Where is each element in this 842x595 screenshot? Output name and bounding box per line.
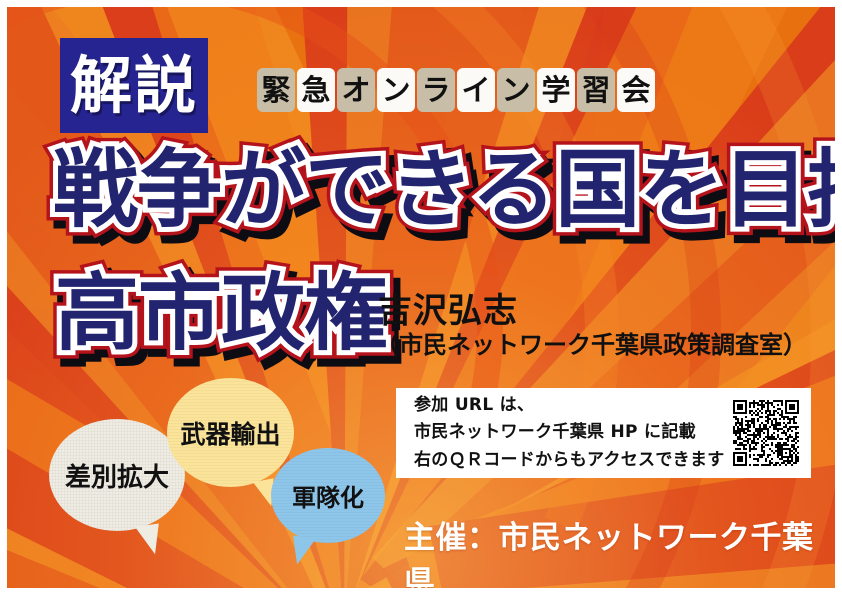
event-type-tile: オ xyxy=(337,68,375,112)
event-type-tiles: 緊急オンライン学習会 xyxy=(257,68,655,112)
event-type-tile: 学 xyxy=(537,68,575,112)
headline-line-2-fill: 高市政権 xyxy=(55,271,387,355)
speech-bubble-weapons-export: 武器輸出 xyxy=(167,378,294,487)
speech-bubble-tail-icon xyxy=(289,536,316,567)
info-line-1: 参加 URL は、 xyxy=(414,392,725,420)
speech-bubble-militarization: 軍隊化 xyxy=(271,448,385,543)
poster-root: 解説 緊急オンライン学習会 戦争ができる国を目指す 戦争ができる国を目指す 戦争… xyxy=(0,0,842,595)
event-type-tile: ン xyxy=(497,68,535,112)
speech-bubble-tail-icon xyxy=(135,523,163,556)
speech-bubble-weapons-export-label: 武器輸出 xyxy=(180,415,280,451)
event-type-tile: ラ xyxy=(417,68,455,112)
headline-line-1-fill: 戦争ができる国を目指す xyxy=(53,148,842,233)
speech-bubble-discrimination-label: 差別拡大 xyxy=(65,457,169,494)
speech-bubble-militarization-label: 軍隊化 xyxy=(292,478,364,513)
qr-code-icon[interactable] xyxy=(733,400,799,466)
event-type-tile: 緊 xyxy=(257,68,295,112)
event-type-tile: 急 xyxy=(297,68,335,112)
info-line-3: 右のＱＲコードからもアクセスできます xyxy=(414,447,725,475)
event-type-tile: 会 xyxy=(617,68,655,112)
info-line-2: 市民ネットワーク千葉県 HP に記載 xyxy=(414,419,725,447)
participation-info-box: 参加 URL は、 市民ネットワーク千葉県 HP に記載 右のＱＲコードからもア… xyxy=(396,388,811,478)
event-type-tile: 習 xyxy=(577,68,615,112)
kaisetsu-badge: 解説 xyxy=(60,38,208,133)
speech-bubble-discrimination: 差別拡大 xyxy=(49,419,185,531)
poster-frame: 解説 緊急オンライン学習会 戦争ができる国を目指す 戦争ができる国を目指す 戦争… xyxy=(0,0,842,595)
event-type-tile: イ xyxy=(457,68,495,112)
speaker-affiliation: （市民ネットワーク千葉県政策調査室） xyxy=(375,325,807,360)
event-type-tile: ン xyxy=(377,68,415,112)
kaisetsu-badge-label: 解説 xyxy=(70,55,198,117)
participation-info-text: 参加 URL は、 市民ネットワーク千葉県 HP に記載 右のＱＲコードからもア… xyxy=(414,392,725,475)
organizer-line: 主催：市民ネットワーク千葉県 xyxy=(404,512,835,595)
